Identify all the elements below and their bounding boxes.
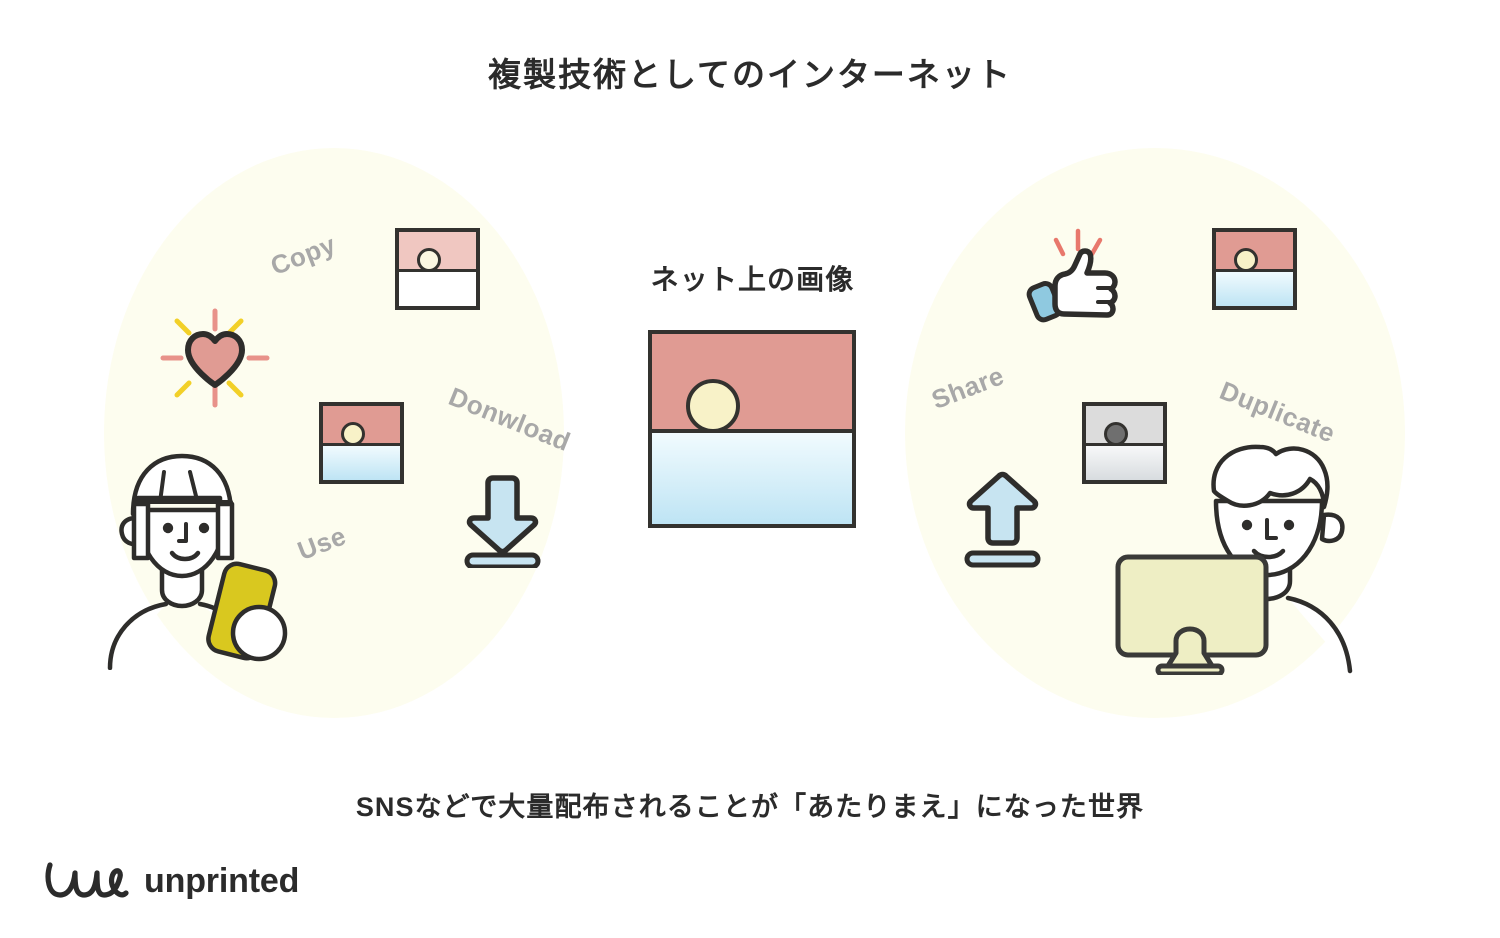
page-title: 複製技術としてのインターネット xyxy=(0,48,1500,96)
thumbs-up-icon xyxy=(1020,218,1130,323)
center-image-label: ネット上の画像 xyxy=(570,258,935,298)
brand-wordmark: unprinted xyxy=(144,862,299,901)
duplicated-image-color xyxy=(1212,228,1297,310)
page-caption: SNSなどで大量配布されることが「あたりまえ」になった世界 xyxy=(0,785,1500,824)
boy-with-monitor xyxy=(1110,435,1410,675)
copied-image-faded xyxy=(395,228,480,310)
download-arrow-icon xyxy=(455,468,550,568)
illustration-canvas: 複製技術としてのインターネット ネット上の画像 Copy Donwload Us… xyxy=(0,0,1500,938)
unprinted-script-mark xyxy=(44,855,130,907)
image-sun-shape xyxy=(686,379,740,433)
brand-logo[interactable]: unprinted xyxy=(44,855,299,907)
image-sea-band xyxy=(399,269,476,306)
heart-with-sparkle-icon xyxy=(155,305,275,410)
internet-source-image xyxy=(648,330,856,528)
image-sea-band xyxy=(1216,269,1293,306)
girl-with-phone xyxy=(100,440,400,670)
upload-arrow-icon xyxy=(955,468,1050,568)
image-sky-band xyxy=(652,334,852,429)
image-sea-band xyxy=(652,429,852,524)
desktop-monitor xyxy=(1118,557,1266,674)
